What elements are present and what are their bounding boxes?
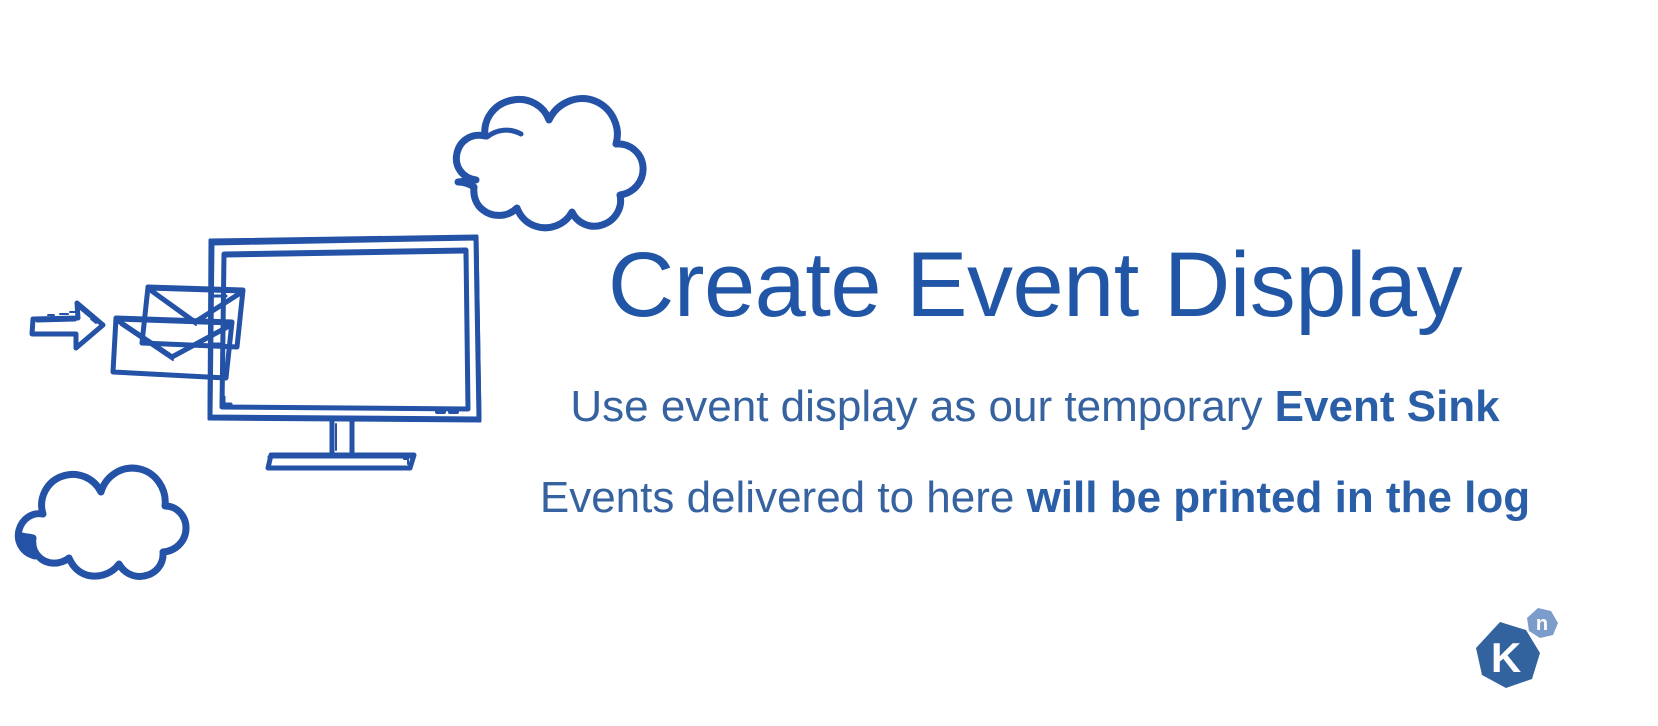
subtitle-1-prefix: Use event display as our temporary [570,382,1274,431]
subtitle-1-emphasis: Event Sink [1275,382,1500,431]
cloud-top-icon [456,99,643,228]
arrow-right-icon [32,303,103,348]
subtitle-2-emphasis: will be printed in the log [1027,473,1531,522]
knative-logo: K n [1456,596,1566,696]
logo-secondary-letter: n [1536,613,1548,635]
subtitle-line-1: Use event display as our temporary Event… [530,381,1540,434]
slide-canvas: Create Event Display Use event display a… [0,0,1658,726]
subtitle-line-2: Events delivered to here will be printed… [530,472,1540,525]
text-block: Create Event Display Use event display a… [530,236,1540,525]
page-title: Create Event Display [530,236,1540,335]
monitor-icon [209,236,480,468]
logo-primary-letter: K [1491,634,1521,681]
subtitle-2-prefix: Events delivered to here [540,473,1027,522]
cloud-bottom-icon [18,468,186,576]
